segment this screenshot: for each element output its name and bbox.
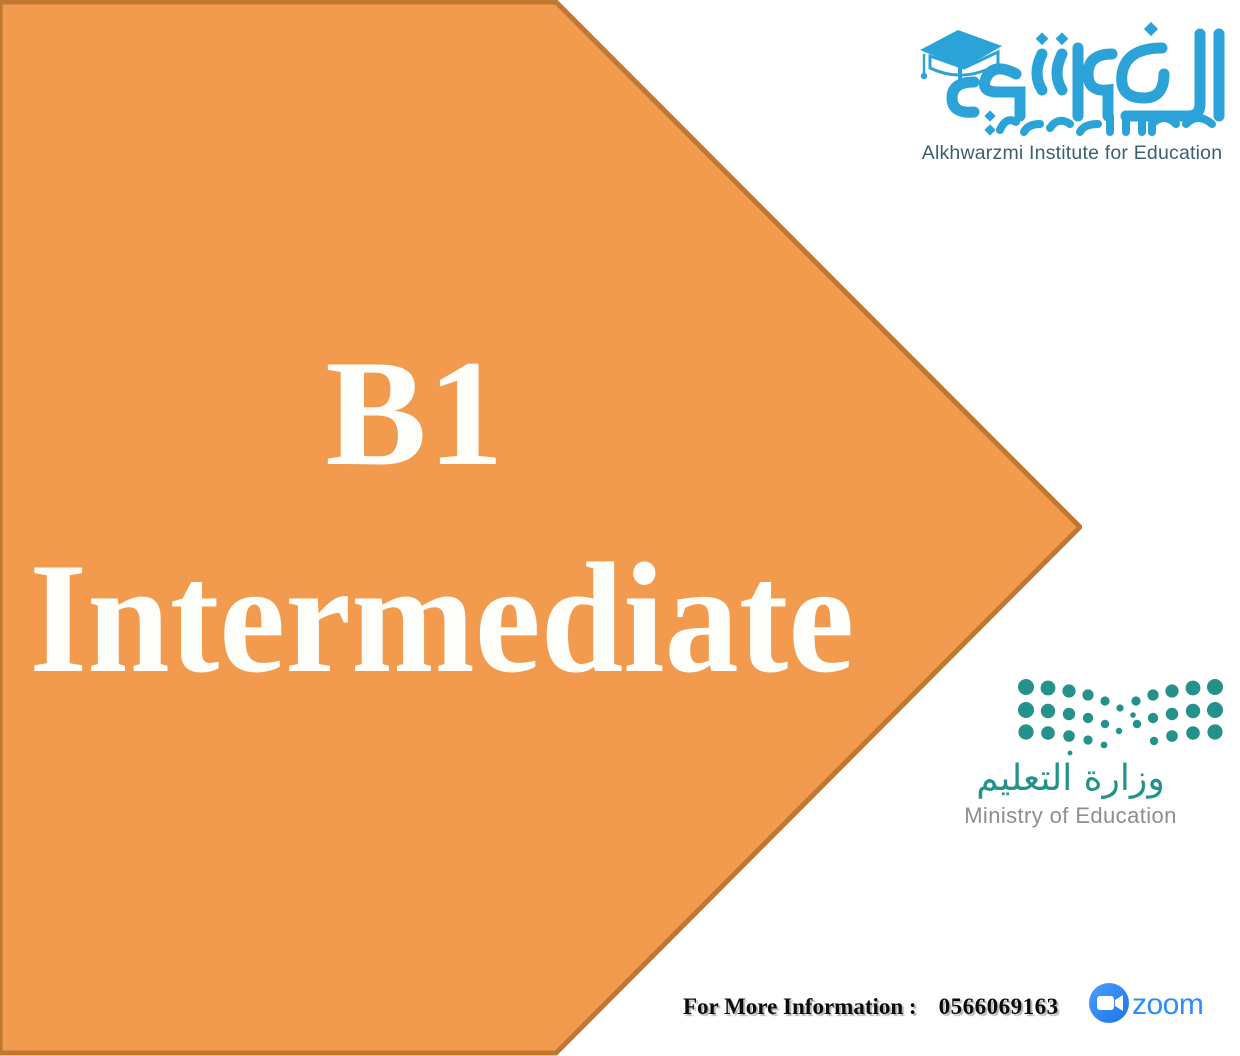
institute-logo-mark: [912, 12, 1232, 140]
contact-label: For More Information :: [683, 994, 917, 1020]
video-camera-icon: [1089, 983, 1129, 1023]
ministry-arabic-name: وزارة التعليم: [918, 758, 1223, 799]
ministry-english-name: Ministry of Education: [918, 803, 1223, 829]
ministry-logo: وزارة التعليم Ministry of Education: [918, 675, 1223, 835]
slide-canvas: B1 Intermediate: [0, 0, 1240, 1056]
zoom-logo: zoom: [1088, 982, 1216, 1024]
zoom-wordmark: zoom: [1132, 988, 1203, 1021]
arabic-diacritic-dots: [1036, 22, 1158, 45]
saudi-palm-dot-pattern-icon: [918, 675, 1223, 757]
contact-phone-number: 0566069163: [939, 994, 1059, 1020]
institute-tagline: Alkhwarzmi Institute for Education: [912, 142, 1232, 165]
contact-info: For More Information : 0566069163: [683, 990, 1059, 1024]
zoom-logo-mark: zoom: [1088, 982, 1216, 1024]
institute-logo: Alkhwarzmi Institute for Education: [912, 12, 1232, 174]
